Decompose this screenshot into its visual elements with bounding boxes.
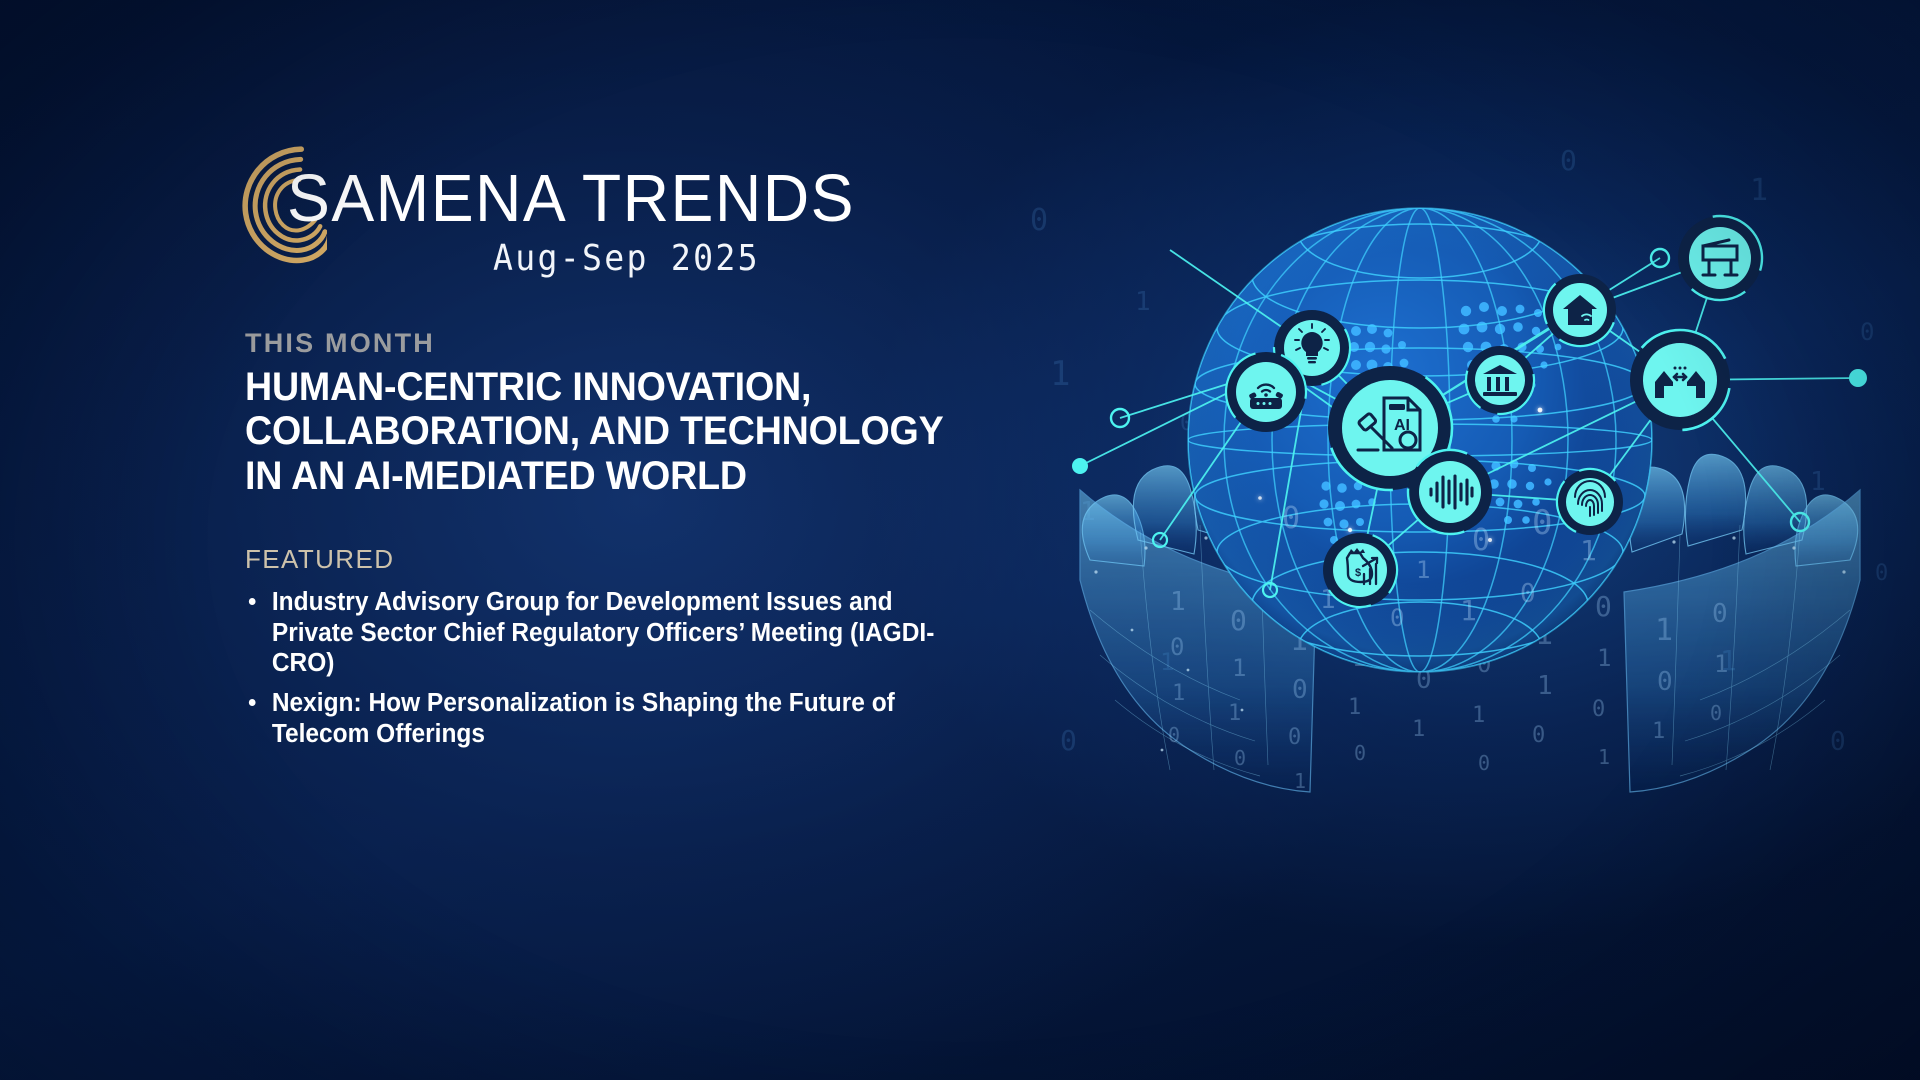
svg-text:1: 1 — [1412, 717, 1425, 742]
svg-text:1: 1 — [1655, 613, 1673, 648]
svg-text:1: 1 — [1597, 644, 1611, 672]
list-item[interactable]: Nexign: How Personalization is Shaping t… — [245, 688, 975, 749]
svg-text:0: 0 — [1592, 697, 1605, 722]
svg-text:1: 1 — [1580, 534, 1597, 567]
list-item[interactable]: Industry Advisory Group for Development … — [245, 587, 975, 679]
svg-text:0: 0 — [1560, 144, 1577, 177]
cover-page: 0 1 1 0 1 0 1 0 1 0 1 0 1 0 — [0, 0, 1920, 1080]
svg-text:1: 1 — [1460, 594, 1477, 627]
headline-line-3: IN AN AI-MEDIATED WORLD — [245, 454, 1053, 498]
page-title: HUMAN-CENTRIC INNOVATION, COLLABORATION,… — [245, 365, 1053, 498]
svg-text:0: 0 — [1712, 599, 1728, 629]
bullet-icon — [249, 699, 256, 706]
masthead: SAMENA TRENDS Aug-Sep 2025 — [245, 150, 1175, 300]
svg-text:1: 1 — [1228, 701, 1241, 726]
this-month-kicker: THIS MONTH — [245, 328, 1175, 359]
svg-text:0: 0 — [1710, 701, 1722, 725]
svg-text:0: 0 — [1520, 579, 1536, 609]
svg-text:1: 1 — [1537, 671, 1553, 701]
brand-title: SAMENA TRENDS — [287, 160, 855, 237]
svg-text:1: 1 — [1232, 654, 1246, 682]
svg-text:0: 0 — [1875, 561, 1888, 586]
svg-text:0: 0 — [1478, 751, 1490, 775]
svg-text:0: 0 — [1472, 523, 1490, 558]
svg-text:0: 0 — [1288, 725, 1301, 750]
svg-text:0: 0 — [1354, 741, 1366, 765]
svg-text:1: 1 — [1714, 650, 1728, 678]
issue-date: Aug-Sep 2025 — [493, 238, 760, 279]
svg-text:1: 1 — [1472, 703, 1485, 728]
svg-text:0: 0 — [1830, 727, 1846, 757]
svg-text:1: 1 — [1294, 769, 1306, 793]
svg-text:0: 0 — [1595, 590, 1612, 623]
bullet-icon — [249, 598, 256, 605]
svg-text:1: 1 — [1652, 719, 1665, 744]
svg-text:1: 1 — [1750, 173, 1768, 208]
node-billboard — [1671, 209, 1768, 306]
svg-text:0: 0 — [1532, 723, 1545, 748]
svg-text:0: 0 — [1230, 604, 1247, 637]
svg-text:1: 1 — [1416, 556, 1430, 584]
featured-article-list: Industry Advisory Group for Development … — [245, 587, 1175, 749]
svg-text:0: 0 — [1390, 604, 1404, 632]
featured-item-text: Nexign: How Personalization is Shaping t… — [272, 689, 895, 748]
svg-text:1: 1 — [1810, 467, 1826, 497]
headline-line-1: HUMAN-CENTRIC INNOVATION, — [245, 365, 1053, 409]
headline-line-2: COLLABORATION, AND TECHNOLOGY — [245, 409, 1053, 453]
svg-text:0: 0 — [1860, 318, 1874, 346]
svg-text:1: 1 — [1598, 745, 1610, 769]
svg-text:0: 0 — [1292, 675, 1308, 705]
svg-text:1: 1 — [1348, 695, 1361, 720]
svg-text:0: 0 — [1532, 503, 1552, 543]
svg-text:0: 0 — [1657, 667, 1673, 697]
svg-text:$: $ — [1355, 567, 1361, 579]
featured-label: FEATURED — [245, 544, 1175, 575]
featured-item-text: Industry Advisory Group for Development … — [272, 588, 934, 677]
svg-text:0: 0 — [1234, 746, 1246, 770]
cover-text-column: SAMENA TRENDS Aug-Sep 2025 THIS MONTH HU… — [245, 150, 1175, 758]
